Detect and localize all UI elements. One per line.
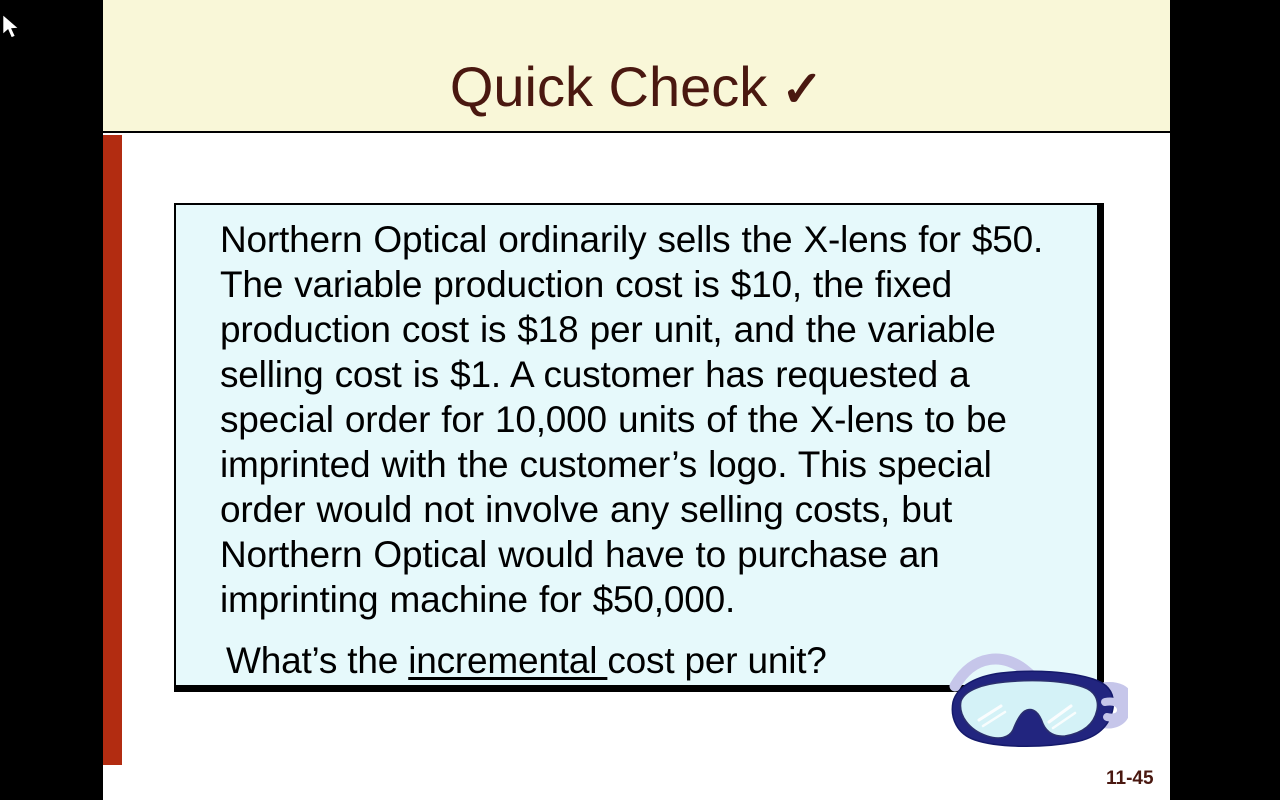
slide-canvas: Quick Check✓ Northern Optical ordinarily… bbox=[103, 0, 1170, 800]
slide-title-banner: Quick Check✓ bbox=[103, 0, 1170, 133]
slide-number: 11-45 bbox=[1106, 768, 1154, 790]
page-title: Quick Check✓ bbox=[103, 54, 1170, 119]
question-underlined-term: incremental bbox=[408, 640, 607, 681]
mouse-pointer-icon bbox=[2, 14, 20, 40]
left-accent-bar bbox=[103, 135, 122, 765]
safety-goggles-icon bbox=[943, 640, 1128, 762]
presentation-viewport: Quick Check✓ Northern Optical ordinarily… bbox=[0, 0, 1280, 800]
page-title-label: Quick Check bbox=[450, 55, 767, 118]
question-suffix: cost per unit? bbox=[607, 640, 826, 681]
question-content-box: Northern Optical ordinarily sells the X-… bbox=[174, 203, 1104, 692]
checkmark-icon: ✓ bbox=[781, 61, 823, 117]
scenario-paragraph: Northern Optical ordinarily sells the X-… bbox=[220, 217, 1079, 622]
question-prefix: What’s the bbox=[226, 640, 408, 681]
